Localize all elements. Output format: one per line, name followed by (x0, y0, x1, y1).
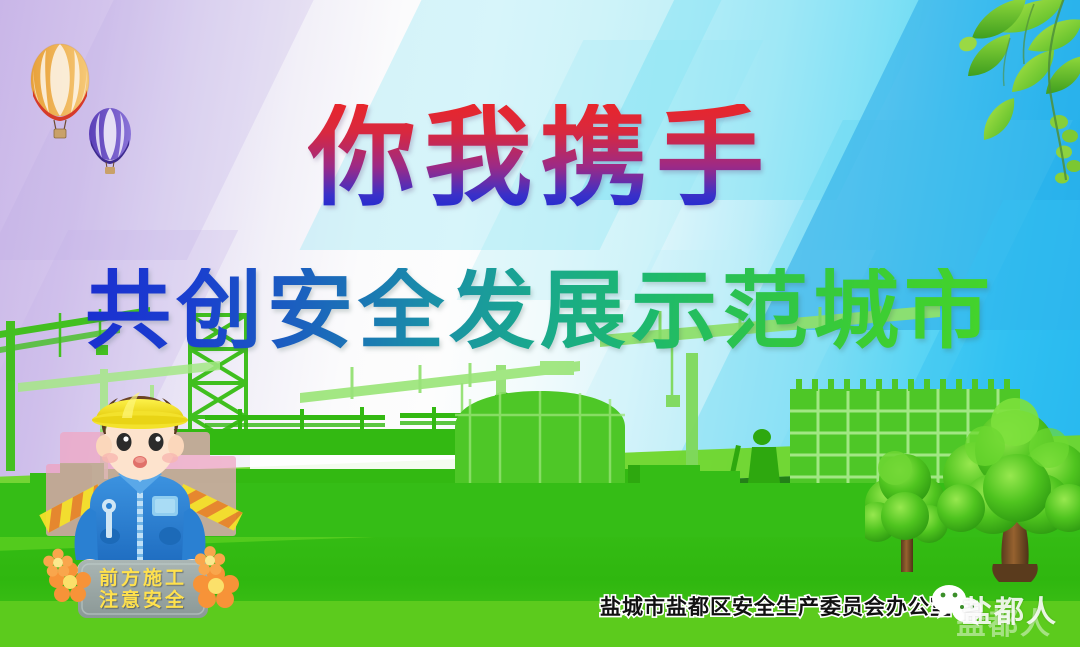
warning-sign-line1: 前方施工 (99, 567, 187, 589)
hot-air-balloon-purple-icon (89, 108, 131, 174)
green-leaves-icon (957, 0, 1080, 184)
footer-caption: 盐城市盐都区安全生产委员会办公室 (600, 591, 952, 621)
safety-campaign-poster: 你我携手 共创安全发展示范城市 (0, 0, 1080, 647)
hot-air-balloons-group (16, 34, 146, 174)
headline-secondary-container: 共创安全发展示范城市 (0, 268, 1080, 354)
trees-group (865, 376, 1080, 611)
hot-air-balloon-orange-icon (31, 44, 89, 138)
headline-primary: 你我携手 (308, 104, 772, 212)
warning-sign-line2: 注意安全 (99, 589, 187, 611)
storage-tank-silhouette (455, 391, 625, 483)
cartoon-construction-worker: 前方施工 注意安全 (34, 378, 249, 623)
warning-sign-text-container: 前方施工 注意安全 (78, 560, 208, 618)
headline-secondary: 共创安全发展示范城市 (85, 268, 995, 354)
tree-icon (865, 451, 948, 572)
watermark: 盐都人 (962, 587, 1058, 631)
tree-icon (937, 398, 1080, 582)
green-leaves-decoration (914, 0, 1080, 184)
